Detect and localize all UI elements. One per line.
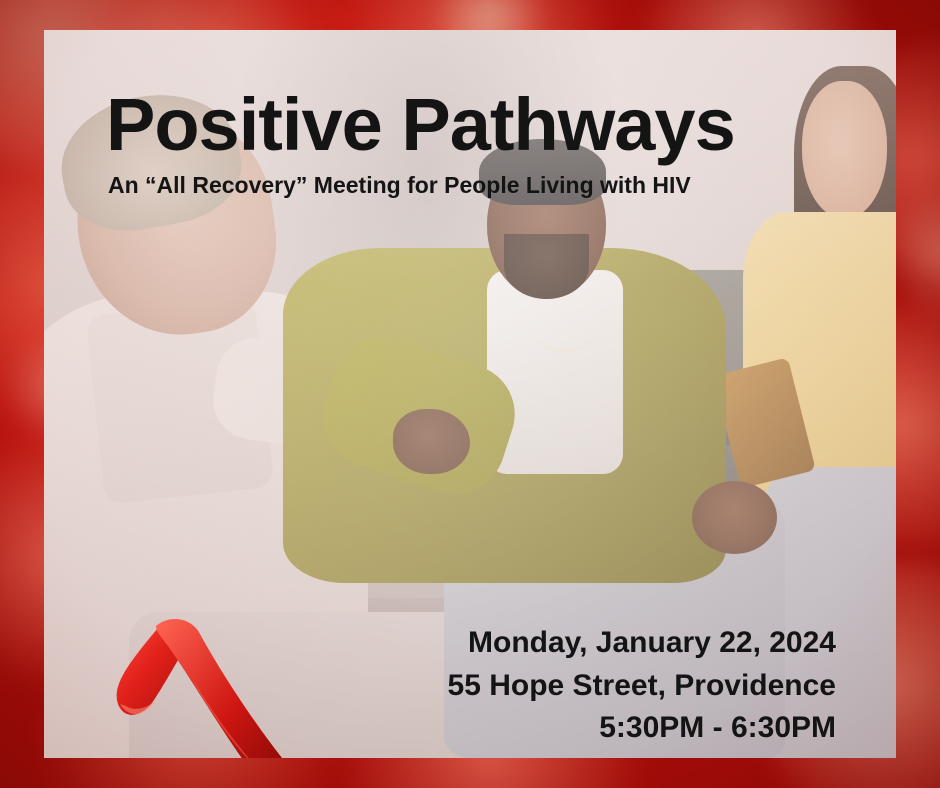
event-date: Monday, January 22, 2024 [44,622,836,665]
poster-subtitle: An “All Recovery” Meeting for People Liv… [108,172,691,199]
event-address: 55 Hope Street, Providence [44,665,836,708]
poster-canvas: Positive Pathways An “All Recovery” Meet… [0,0,940,788]
poster-title: Positive Pathways [106,88,735,162]
event-time: 5:30PM - 6:30PM [44,707,836,750]
group-meeting-photo: Positive Pathways An “All Recovery” Meet… [44,30,896,758]
event-details: Monday, January 22, 2024 55 Hope Street,… [44,622,836,750]
